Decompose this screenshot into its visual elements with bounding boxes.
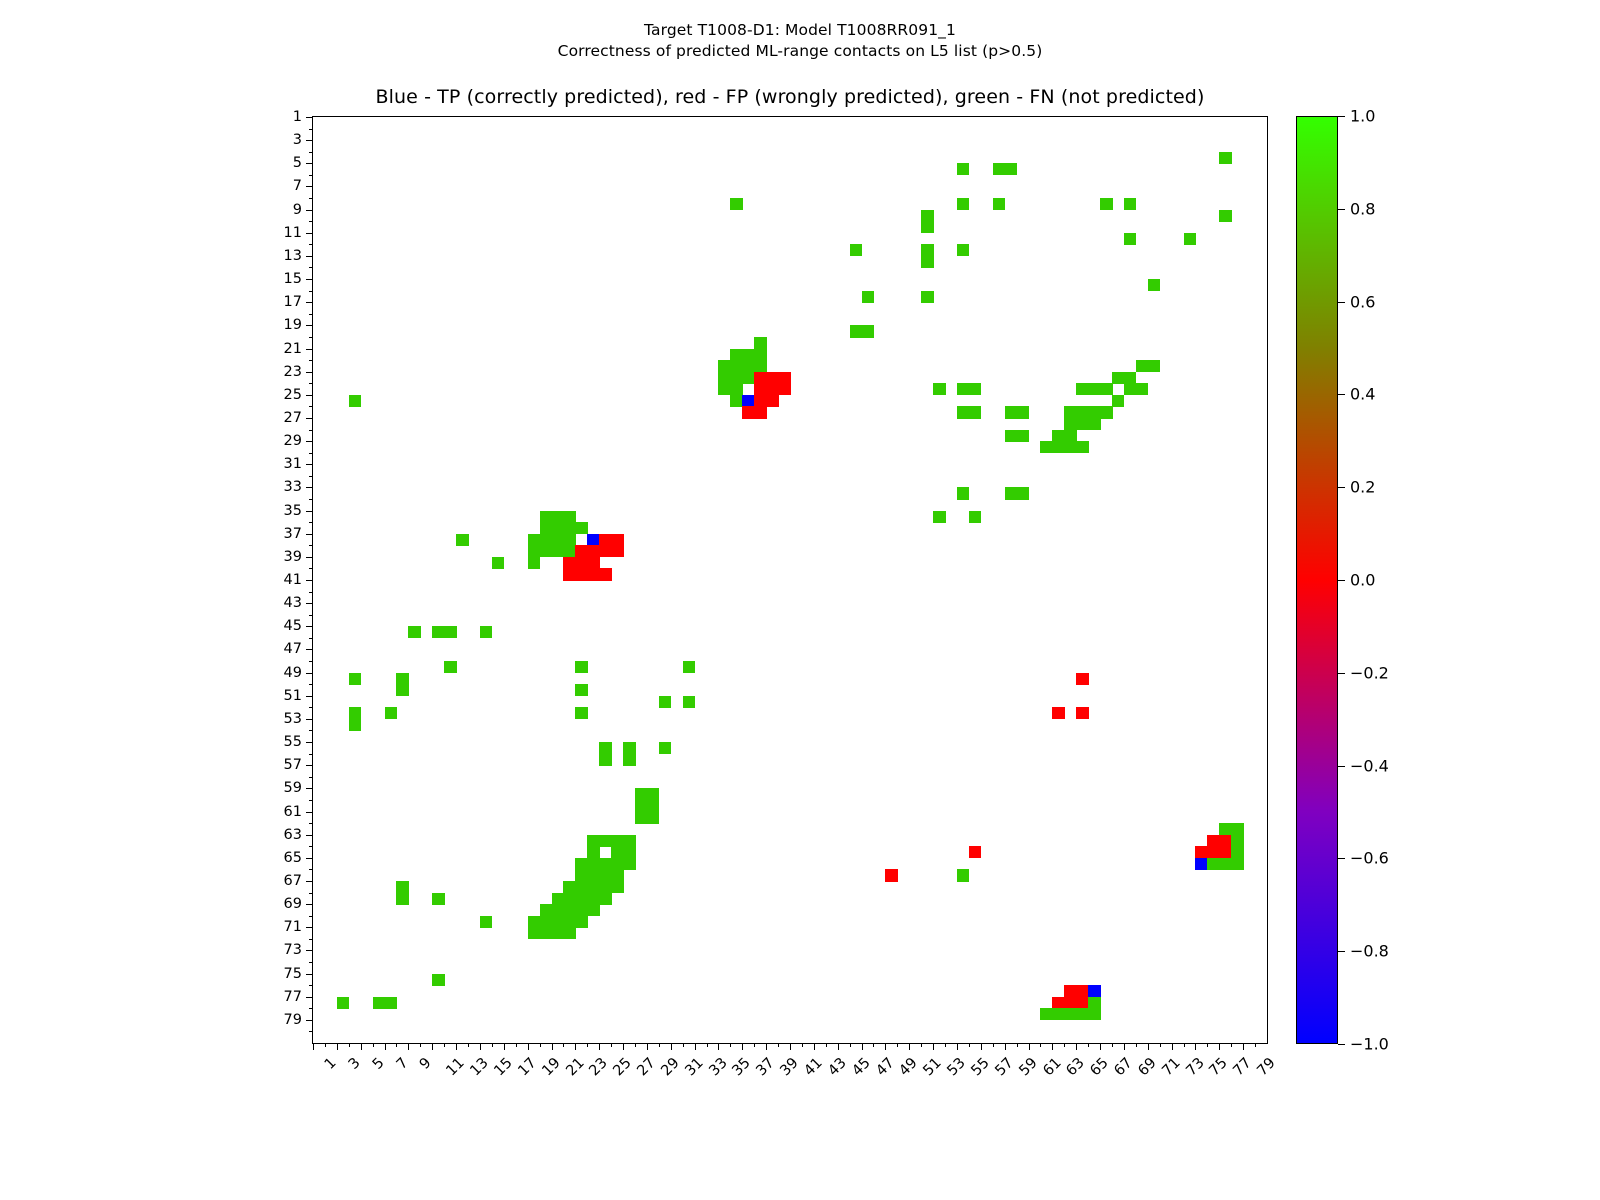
- y-axis-tick: [306, 487, 313, 488]
- contact-cell: [373, 997, 386, 1009]
- x-axis-tick: [599, 1043, 600, 1050]
- x-axis-tick-label: 33: [706, 1055, 730, 1079]
- contact-cell: [563, 545, 576, 557]
- contact-cell: [957, 869, 970, 881]
- y-axis-tick-label: 49: [284, 665, 302, 681]
- y-axis-tick: [309, 453, 313, 454]
- x-axis-tick: [516, 1043, 517, 1047]
- colorbar-tick: [1338, 673, 1345, 674]
- contact-cell: [1231, 835, 1244, 847]
- y-axis-tick: [306, 279, 313, 280]
- y-axis-tick: [309, 129, 313, 130]
- y-axis-tick-label: 25: [284, 387, 302, 403]
- y-axis-tick: [306, 997, 313, 998]
- contact-cell: [1088, 1008, 1101, 1020]
- x-axis-tick: [361, 1043, 362, 1050]
- contact-cell: [993, 198, 1006, 210]
- contact-cell: [647, 812, 660, 824]
- contact-cell: [921, 221, 934, 233]
- x-axis-tick-label: 3: [346, 1055, 364, 1073]
- contact-cell: [587, 904, 600, 916]
- contact-cell: [957, 198, 970, 210]
- y-axis-tick: [306, 812, 313, 813]
- x-axis-tick: [909, 1043, 910, 1050]
- contact-cell: [957, 487, 970, 499]
- contact-cell: [1005, 406, 1018, 418]
- contact-cell: [1231, 846, 1244, 858]
- contact-cell: [540, 534, 553, 546]
- x-axis-tick-label: 9: [417, 1055, 435, 1073]
- contact-cell: [1124, 383, 1137, 395]
- x-axis-tick: [993, 1043, 994, 1047]
- x-axis-tick: [1017, 1043, 1018, 1047]
- contact-cell: [754, 360, 767, 372]
- contact-cell: [587, 881, 600, 893]
- contact-cell: [599, 754, 612, 766]
- contact-cell: [1064, 430, 1077, 442]
- y-axis-tick: [309, 360, 313, 361]
- y-axis-tick-label: 21: [284, 341, 302, 357]
- y-axis-tick: [306, 140, 313, 141]
- contact-cell: [563, 881, 576, 893]
- contact-cell: [1112, 372, 1125, 384]
- colorbar-tick: [1338, 951, 1345, 952]
- x-axis-tick: [838, 1043, 839, 1050]
- contact-cell: [480, 626, 493, 638]
- x-axis-tick-label: 55: [968, 1055, 992, 1079]
- y-axis-tick: [306, 464, 313, 465]
- contact-cell: [730, 360, 743, 372]
- contact-map-cells: [313, 117, 1267, 1043]
- x-axis-tick: [1005, 1043, 1006, 1050]
- x-axis-tick-label: 47: [873, 1055, 897, 1079]
- y-axis-tick-label: 45: [284, 618, 302, 634]
- x-axis-tick: [1112, 1043, 1113, 1047]
- contact-cell: [623, 835, 636, 847]
- y-axis-tick: [309, 198, 313, 199]
- y-axis-tick-label: 47: [284, 641, 302, 657]
- x-axis-tick: [671, 1043, 672, 1050]
- y-axis-tick: [306, 534, 313, 535]
- contact-cell: [599, 869, 612, 881]
- x-axis-tick: [408, 1043, 409, 1050]
- contact-cell: [575, 881, 588, 893]
- contact-cell: [1148, 279, 1161, 291]
- contact-cell: [1184, 233, 1197, 245]
- contact-cell: [528, 545, 541, 557]
- contact-cell: [563, 904, 576, 916]
- contact-cell: [563, 534, 576, 546]
- y-axis-tick-label: 51: [284, 688, 302, 704]
- contact-cell: [1195, 846, 1208, 858]
- contact-cell: [552, 916, 565, 928]
- x-axis-tick: [814, 1043, 815, 1050]
- contact-cell: [1219, 152, 1232, 164]
- y-axis-tick: [306, 256, 313, 257]
- x-axis-tick: [313, 1043, 314, 1050]
- colorbar-tick: [1338, 580, 1345, 581]
- x-axis-tick: [873, 1043, 874, 1047]
- contact-cell: [683, 696, 696, 708]
- x-axis-tick: [635, 1043, 636, 1047]
- y-axis-tick: [306, 395, 313, 396]
- contact-cell: [635, 788, 648, 800]
- contact-cell: [587, 568, 600, 580]
- y-axis-tick: [306, 904, 313, 905]
- contact-cell: [587, 893, 600, 905]
- contact-cell: [444, 626, 457, 638]
- x-axis-tick-label: 59: [1016, 1055, 1040, 1079]
- x-axis-tick-label: 29: [658, 1055, 682, 1079]
- contact-cell: [1100, 198, 1113, 210]
- x-axis-tick: [969, 1043, 970, 1047]
- x-axis-tick: [587, 1043, 588, 1047]
- x-axis-tick: [1064, 1043, 1065, 1047]
- colorbar-tick: [1338, 209, 1345, 210]
- x-axis-tick-label: 63: [1064, 1055, 1088, 1079]
- contact-cell: [611, 835, 624, 847]
- contact-cell: [575, 568, 588, 580]
- y-axis-tick-label: 1: [293, 109, 302, 125]
- contact-cell: [492, 557, 505, 569]
- contact-cell: [1088, 406, 1101, 418]
- contact-cell: [575, 904, 588, 916]
- contact-cell: [611, 846, 624, 858]
- y-axis-tick: [309, 314, 313, 315]
- contact-cell: [742, 349, 755, 361]
- contact-cell: [862, 291, 875, 303]
- contact-cell: [563, 916, 576, 928]
- contact-cell: [456, 534, 469, 546]
- y-axis-tick: [309, 152, 313, 153]
- y-axis-tick-label: 35: [284, 503, 302, 519]
- y-axis-tick-label: 9: [293, 202, 302, 218]
- y-axis-tick: [309, 430, 313, 431]
- y-axis-tick-label: 23: [284, 364, 302, 380]
- y-axis-tick-label: 33: [284, 479, 302, 495]
- contact-cell: [528, 916, 541, 928]
- x-axis-tick: [540, 1043, 541, 1047]
- colorbar-tick: [1338, 858, 1345, 859]
- plot-legend-title: Blue - TP (correctly predicted), red - F…: [312, 86, 1268, 108]
- contact-cell: [1017, 487, 1030, 499]
- y-axis-tick: [309, 221, 313, 222]
- contact-cell: [540, 904, 553, 916]
- x-axis-tick: [432, 1043, 433, 1050]
- contact-cell: [540, 916, 553, 928]
- contact-cell: [587, 858, 600, 870]
- contact-cell: [552, 904, 565, 916]
- x-axis-tick-label: 21: [563, 1055, 587, 1079]
- contact-cell: [337, 997, 350, 1009]
- y-axis-tick-label: 19: [284, 317, 302, 333]
- contact-cell: [1017, 406, 1030, 418]
- contact-cell: [396, 893, 409, 905]
- y-axis-tick: [309, 545, 313, 546]
- x-axis-tick-label: 5: [369, 1055, 387, 1073]
- contact-cell: [623, 742, 636, 754]
- x-axis-tick: [1172, 1043, 1173, 1050]
- contact-cell: [718, 372, 731, 384]
- contact-cell: [575, 545, 588, 557]
- contact-cell: [730, 372, 743, 384]
- y-axis-tick-label: 75: [284, 966, 302, 982]
- contact-cell: [969, 406, 982, 418]
- y-axis-tick: [306, 649, 313, 650]
- x-axis-tick: [778, 1043, 779, 1047]
- y-axis-tick: [309, 962, 313, 963]
- y-axis-tick: [309, 846, 313, 847]
- y-axis-tick: [309, 730, 313, 731]
- contact-cell: [552, 893, 565, 905]
- y-axis-tick-label: 77: [284, 989, 302, 1005]
- y-axis-tick: [309, 592, 313, 593]
- y-axis-tick: [306, 441, 313, 442]
- contact-cell: [349, 719, 362, 731]
- contact-cell: [1219, 823, 1232, 835]
- x-axis-tick-label: 27: [634, 1055, 658, 1079]
- contact-cell: [659, 696, 672, 708]
- x-axis-tick: [1029, 1043, 1030, 1050]
- contact-cell: [921, 210, 934, 222]
- x-axis-tick: [552, 1043, 553, 1050]
- contact-cell: [1005, 163, 1018, 175]
- x-axis-tick: [1207, 1043, 1208, 1047]
- contact-cell: [778, 372, 791, 384]
- y-axis-tick-label: 43: [284, 595, 302, 611]
- x-axis-tick: [1088, 1043, 1089, 1047]
- y-axis-tick-label: 71: [284, 919, 302, 935]
- y-axis-tick-label: 65: [284, 850, 302, 866]
- contact-cell: [1100, 406, 1113, 418]
- x-axis-tick-label: 25: [611, 1055, 635, 1079]
- contact-cell: [1064, 1008, 1077, 1020]
- colorbar-tick-label: 0.0: [1350, 571, 1375, 590]
- y-axis-tick: [306, 835, 313, 836]
- contact-cell: [611, 858, 624, 870]
- x-axis-tick: [396, 1043, 397, 1047]
- contact-cell: [408, 626, 421, 638]
- contact-cell: [754, 372, 767, 384]
- y-axis-tick: [306, 511, 313, 512]
- contact-cell: [587, 869, 600, 881]
- contact-cell: [1064, 406, 1077, 418]
- y-axis-tick: [306, 117, 313, 118]
- contact-cell: [599, 893, 612, 905]
- contact-cell: [754, 349, 767, 361]
- x-axis-tick: [1148, 1043, 1149, 1050]
- contact-cell: [540, 511, 553, 523]
- y-axis-tick-label: 17: [284, 294, 302, 310]
- x-axis-tick: [468, 1043, 469, 1047]
- x-axis-tick: [659, 1043, 660, 1047]
- y-axis-tick: [306, 927, 313, 928]
- y-axis-tick: [306, 765, 313, 766]
- colorbar-tick: [1338, 116, 1345, 117]
- x-axis-tick: [373, 1043, 374, 1047]
- x-axis-tick-label: 49: [897, 1055, 921, 1079]
- x-axis-tick: [444, 1043, 445, 1047]
- y-axis-tick: [306, 742, 313, 743]
- contact-cell: [778, 383, 791, 395]
- contact-cell: [1064, 418, 1077, 430]
- x-axis-tick-label: 11: [444, 1055, 468, 1079]
- contact-cell: [385, 997, 398, 1009]
- x-axis-tick: [683, 1043, 684, 1047]
- colorbar-tick-label: −0.8: [1350, 942, 1389, 961]
- y-axis-tick: [309, 869, 313, 870]
- contact-cell: [862, 325, 875, 337]
- contact-cell: [1219, 210, 1232, 222]
- contact-cell: [1076, 441, 1089, 453]
- y-axis-tick: [309, 661, 313, 662]
- colorbar-tick-label: −0.2: [1350, 663, 1389, 682]
- x-axis-tick: [981, 1043, 982, 1050]
- contact-cell: [754, 383, 767, 395]
- y-axis-tick-label: 69: [284, 896, 302, 912]
- x-axis-tick: [718, 1043, 719, 1050]
- contact-cell: [552, 545, 565, 557]
- contact-cell: [1088, 997, 1101, 1009]
- x-axis-tick: [957, 1043, 958, 1050]
- contact-cell: [611, 534, 624, 546]
- y-axis-tick: [309, 476, 313, 477]
- contact-cell: [587, 534, 600, 546]
- y-axis-tick-label: 39: [284, 549, 302, 565]
- y-axis-tick: [306, 881, 313, 882]
- contact-cell: [730, 383, 743, 395]
- y-axis-tick: [309, 499, 313, 500]
- contact-cell: [432, 893, 445, 905]
- x-axis-tick: [897, 1043, 898, 1047]
- contact-cell: [611, 881, 624, 893]
- x-axis-tick-label: 7: [393, 1055, 411, 1073]
- x-axis-tick-label: 23: [587, 1055, 611, 1079]
- y-axis-tick: [306, 233, 313, 234]
- x-axis-tick: [945, 1043, 946, 1047]
- contact-cell: [1136, 360, 1149, 372]
- contact-cell: [766, 395, 779, 407]
- colorbar-tick: [1338, 487, 1345, 488]
- x-axis-tick: [790, 1043, 791, 1050]
- x-axis-tick-label: 79: [1255, 1055, 1279, 1079]
- x-axis-tick-label: 43: [825, 1055, 849, 1079]
- x-axis-tick-label: 35: [730, 1055, 754, 1079]
- x-axis-tick-label: 61: [1040, 1055, 1064, 1079]
- x-axis-tick: [1184, 1043, 1185, 1047]
- y-axis-tick-label: 63: [284, 827, 302, 843]
- contact-cell: [611, 545, 624, 557]
- contact-cell: [1040, 441, 1053, 453]
- x-axis-tick-label: 69: [1135, 1055, 1159, 1079]
- x-axis-tick: [480, 1043, 481, 1050]
- contact-cell: [599, 858, 612, 870]
- contact-cell: [1005, 487, 1018, 499]
- x-axis-tick: [802, 1043, 803, 1047]
- contact-cell: [766, 383, 779, 395]
- x-axis-tick-label: 75: [1207, 1055, 1231, 1079]
- x-axis-tick: [730, 1043, 731, 1047]
- colorbar-tick-label: 0.6: [1350, 292, 1375, 311]
- contact-cell: [1219, 846, 1232, 858]
- contact-cell: [563, 522, 576, 534]
- contact-cell: [1076, 673, 1089, 685]
- y-axis-tick: [306, 719, 313, 720]
- contact-cell: [1124, 372, 1137, 384]
- x-axis-tick: [1136, 1043, 1137, 1047]
- y-axis-tick: [306, 349, 313, 350]
- contact-cell: [599, 835, 612, 847]
- x-axis-tick-label: 45: [849, 1055, 873, 1079]
- contact-cell: [1207, 835, 1220, 847]
- contact-cell: [1064, 441, 1077, 453]
- contact-cell: [349, 673, 362, 685]
- contact-cell: [1052, 1008, 1065, 1020]
- x-axis-tick: [1255, 1043, 1256, 1047]
- x-axis-tick: [1124, 1043, 1125, 1050]
- contact-cell: [396, 881, 409, 893]
- x-axis-tick: [754, 1043, 755, 1047]
- contact-cell: [575, 869, 588, 881]
- x-axis-tick: [325, 1043, 326, 1047]
- contact-cell: [349, 395, 362, 407]
- x-axis-tick: [1160, 1043, 1161, 1047]
- contact-cell: [1052, 997, 1065, 1009]
- colorbar-tick: [1338, 394, 1345, 395]
- colorbar-tick-label: −0.6: [1350, 849, 1389, 868]
- x-axis-tick: [707, 1043, 708, 1047]
- contact-cell: [563, 557, 576, 569]
- contact-cell: [1052, 430, 1065, 442]
- y-axis-tick: [306, 788, 313, 789]
- y-axis-tick: [306, 557, 313, 558]
- x-axis-tick: [349, 1043, 350, 1047]
- contact-cell: [921, 291, 934, 303]
- contact-cell: [587, 557, 600, 569]
- contact-cell: [1052, 441, 1065, 453]
- contact-cell: [587, 846, 600, 858]
- contact-cell: [623, 846, 636, 858]
- x-axis-tick: [528, 1043, 529, 1050]
- x-axis-tick-label: 17: [515, 1055, 539, 1079]
- contact-cell: [587, 835, 600, 847]
- x-axis-tick: [575, 1043, 576, 1050]
- x-axis-tick: [623, 1043, 624, 1050]
- contact-cell: [1124, 233, 1137, 245]
- colorbar[interactable]: 1.00.80.60.40.20.0−0.2−0.4−0.6−0.8−1.0: [1296, 116, 1338, 1044]
- y-axis-tick: [309, 337, 313, 338]
- figure-title-block: Target T1008-D1: Model T1008RR091_1 Corr…: [0, 20, 1600, 62]
- colorbar-tick-label: 1.0: [1350, 107, 1375, 126]
- contact-cell: [528, 534, 541, 546]
- contact-cell: [1219, 835, 1232, 847]
- colorbar-tick: [1338, 302, 1345, 303]
- contact-cell: [528, 557, 541, 569]
- colorbar-tick-label: 0.8: [1350, 199, 1375, 218]
- contact-map-plot[interactable]: 1133557799111113131515171719192121232325…: [312, 116, 1268, 1044]
- contact-cell: [850, 325, 863, 337]
- contact-cell: [1040, 1008, 1053, 1020]
- contact-cell: [444, 661, 457, 673]
- contact-cell: [969, 846, 982, 858]
- y-axis-tick: [306, 418, 313, 419]
- y-axis-tick: [306, 580, 313, 581]
- y-axis-tick: [306, 302, 313, 303]
- x-axis-tick-label: 57: [992, 1055, 1016, 1079]
- x-axis-tick-label: 53: [944, 1055, 968, 1079]
- x-axis-tick: [826, 1043, 827, 1047]
- contact-cell: [575, 707, 588, 719]
